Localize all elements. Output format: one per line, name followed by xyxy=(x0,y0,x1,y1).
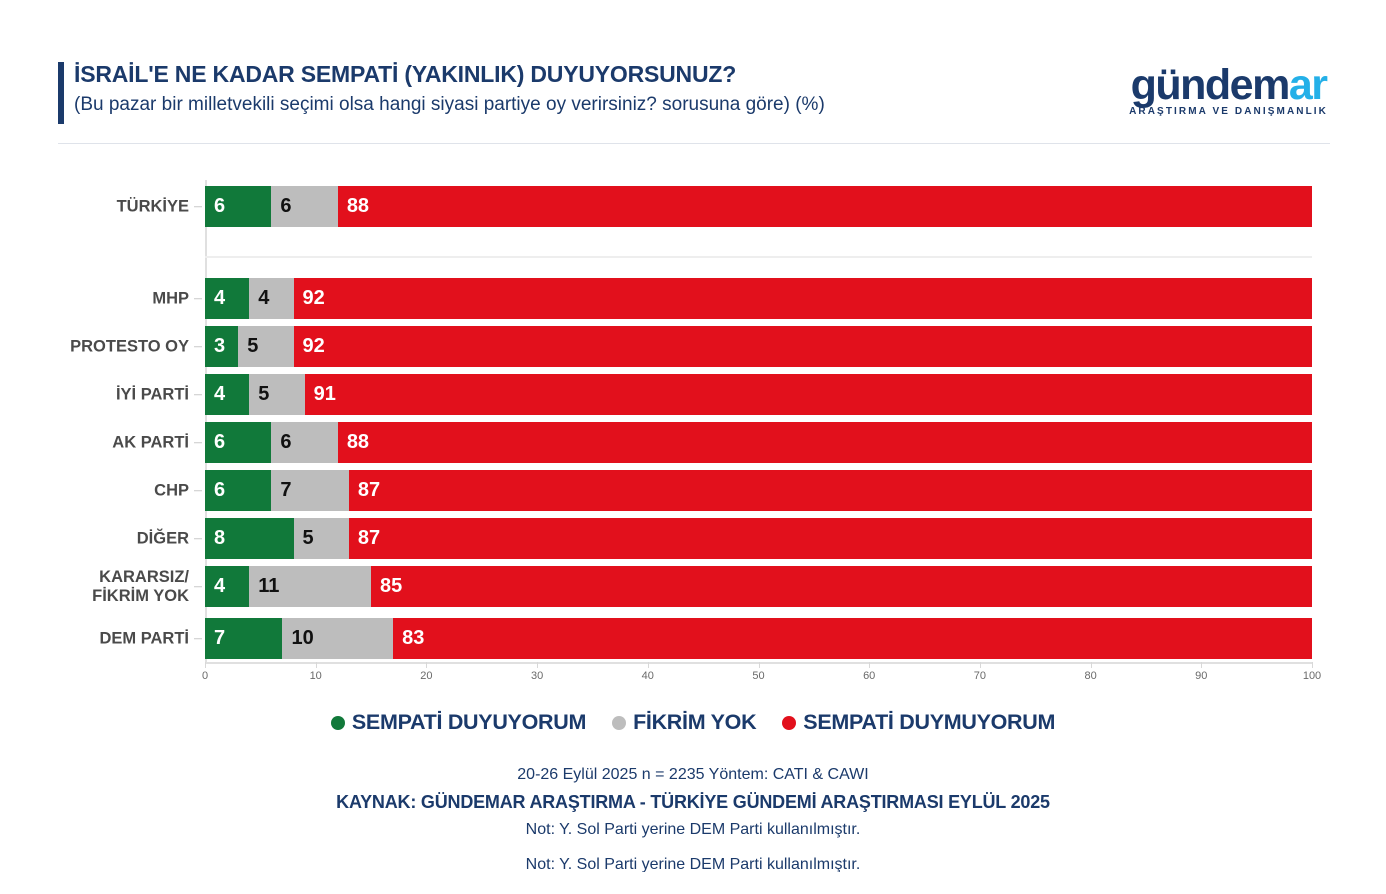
stacked-bar: 4591 xyxy=(205,374,1312,415)
x-tick-label: 40 xyxy=(642,670,654,682)
chart-footer: 20-26 Eylül 2025 n = 2235 Yöntem: CATI &… xyxy=(0,763,1386,843)
bar-segment-value: 6 xyxy=(205,470,271,511)
bar-segment-value: 4 xyxy=(249,278,293,319)
row-label: MHP xyxy=(0,289,205,308)
bar-segment-value: 91 xyxy=(305,374,1312,415)
bar-segment-value: 4 xyxy=(205,278,249,319)
axis-tick-dash xyxy=(194,538,202,540)
x-tick-label: 80 xyxy=(1084,670,1096,682)
axis-tick-dash xyxy=(194,442,202,444)
axis-tick-dash xyxy=(194,394,202,396)
row-label: TÜRKİYE xyxy=(0,197,205,216)
bar-segment-value: 7 xyxy=(205,618,282,659)
axis-tick-dash xyxy=(194,298,202,300)
chart-row: AK PARTİ6688 xyxy=(0,422,1386,463)
legend-label: SEMPATİ DUYMUYORUM xyxy=(803,710,1055,735)
x-tick-label: 90 xyxy=(1195,670,1207,682)
x-tick-label: 100 xyxy=(1303,670,1321,682)
x-tick-label: 50 xyxy=(752,670,764,682)
stacked-bar: 4492 xyxy=(205,278,1312,319)
bar-segment-value: 85 xyxy=(371,566,1312,607)
bar-segment-value: 6 xyxy=(271,422,337,463)
x-tick-mark xyxy=(316,662,317,668)
stacked-bar: 8587 xyxy=(205,518,1312,559)
x-tick-label: 20 xyxy=(420,670,432,682)
bar-segment-value: 83 xyxy=(393,618,1312,659)
legend-color-dot-icon xyxy=(612,716,626,730)
bar-segment-value: 92 xyxy=(294,326,1312,367)
stacked-bar: 6688 xyxy=(205,422,1312,463)
bar-segment-value: 5 xyxy=(294,518,349,559)
legend-label: FİKRİM YOK xyxy=(633,710,756,735)
footer-note-duplicate-text: Not: Y. Sol Parti yerine DEM Parti kulla… xyxy=(526,854,861,872)
bar-segment-value: 92 xyxy=(294,278,1312,319)
chart-row: PROTESTO OY3592 xyxy=(0,326,1386,367)
x-tick-mark xyxy=(1201,662,1202,668)
bar-segment-value: 11 xyxy=(249,566,371,607)
chart-row: KARARSIZ/ FİKRİM YOK41185 xyxy=(0,566,1386,607)
chart-row: DİĞER8587 xyxy=(0,518,1386,559)
axis-tick-dash xyxy=(194,206,202,208)
x-tick-mark xyxy=(980,662,981,668)
row-label: İYİ PARTİ xyxy=(0,385,205,404)
row-label: AK PARTİ xyxy=(0,433,205,452)
axis-tick-dash xyxy=(194,586,202,588)
bar-segment-value: 8 xyxy=(205,518,294,559)
legend-color-dot-icon xyxy=(782,716,796,730)
x-tick-label: 70 xyxy=(974,670,986,682)
bar-segment-value: 6 xyxy=(271,186,337,227)
bar-segment-value: 87 xyxy=(349,470,1312,511)
x-tick-mark xyxy=(759,662,760,668)
bar-segment-value: 87 xyxy=(349,518,1312,559)
chart-row: TÜRKİYE6688 xyxy=(0,186,1386,227)
legend-item[interactable]: FİKRİM YOK xyxy=(612,710,756,735)
row-label: PROTESTO OY xyxy=(0,337,205,356)
stacked-bar: 3592 xyxy=(205,326,1312,367)
x-tick-mark xyxy=(1091,662,1092,668)
x-tick-mark xyxy=(648,662,649,668)
x-tick-mark xyxy=(537,662,538,668)
bar-segment-value: 88 xyxy=(338,186,1312,227)
x-tick-label: 0 xyxy=(202,670,208,682)
bar-segment-value: 7 xyxy=(271,470,348,511)
row-label: CHP xyxy=(0,481,205,500)
legend-color-dot-icon xyxy=(331,716,345,730)
chart-row: İYİ PARTİ4591 xyxy=(0,374,1386,415)
stacked-bar: 71083 xyxy=(205,618,1312,659)
bar-segment-value: 5 xyxy=(249,374,304,415)
axis-tick-dash xyxy=(194,638,202,640)
turkiye-section-divider xyxy=(205,256,1312,258)
x-tick-mark xyxy=(869,662,870,668)
axis-tick-dash xyxy=(194,490,202,492)
chart-row: CHP6787 xyxy=(0,470,1386,511)
footer-source: KAYNAK: GÜNDEMAR ARAŞTIRMA - TÜRKİYE GÜN… xyxy=(0,787,1386,817)
x-tick-label: 60 xyxy=(863,670,875,682)
stacked-bar: 6787 xyxy=(205,470,1312,511)
chart-legend: SEMPATİ DUYUYORUMFİKRİM YOKSEMPATİ DUYMU… xyxy=(0,710,1386,735)
legend-item[interactable]: SEMPATİ DUYMUYORUM xyxy=(782,710,1055,735)
axis-tick-dash xyxy=(194,346,202,348)
bar-segment-value: 10 xyxy=(282,618,393,659)
row-label: KARARSIZ/ FİKRİM YOK xyxy=(0,568,205,606)
chart-row: DEM PARTİ71083 xyxy=(0,618,1386,659)
footer-sample-info: 20-26 Eylül 2025 n = 2235 Yöntem: CATI &… xyxy=(0,763,1386,787)
bar-segment-value: 6 xyxy=(205,422,271,463)
bar-segment-value: 3 xyxy=(205,326,238,367)
x-tick-label: 30 xyxy=(531,670,543,682)
bar-segment-value: 4 xyxy=(205,566,249,607)
x-tick-label: 10 xyxy=(310,670,322,682)
poll-chart-page: İSRAİL'E NE KADAR SEMPATİ (YAKINLIK) DUY… xyxy=(0,0,1386,894)
x-tick-mark xyxy=(426,662,427,668)
row-label: DEM PARTİ xyxy=(0,629,205,648)
bar-segment-value: 88 xyxy=(338,422,1312,463)
chart-row: MHP4492 xyxy=(0,278,1386,319)
legend-label: SEMPATİ DUYUYORUM xyxy=(352,710,586,735)
x-tick-mark xyxy=(205,662,206,668)
stacked-bar: 6688 xyxy=(205,186,1312,227)
bar-segment-value: 5 xyxy=(238,326,293,367)
row-label: DİĞER xyxy=(0,529,205,548)
stacked-bar: 41185 xyxy=(205,566,1312,607)
stacked-bar-chart: TÜRKİYE6688MHP4492PROTESTO OY3592İYİ PAR… xyxy=(0,0,1386,894)
bar-segment-value: 6 xyxy=(205,186,271,227)
x-tick-mark xyxy=(1312,662,1313,668)
legend-item[interactable]: SEMPATİ DUYUYORUM xyxy=(331,710,586,735)
bar-segment-value: 4 xyxy=(205,374,249,415)
footer-note: Not: Y. Sol Parti yerine DEM Parti kulla… xyxy=(0,817,1386,843)
footer-note-duplicate: Not: Y. Sol Parti yerine DEM Parti kulla… xyxy=(0,854,1386,872)
